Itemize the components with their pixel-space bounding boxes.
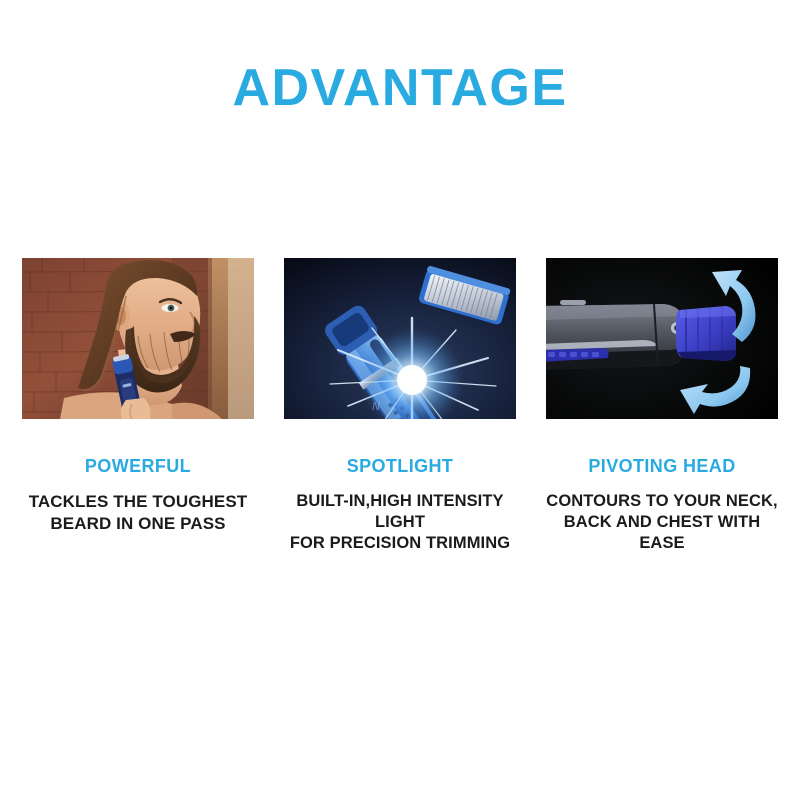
page-title: ADVANTAGE [0, 62, 800, 114]
feature-body-powerful: TACKLES THE TOUGHEST BEARD IN ONE PASS [29, 491, 248, 535]
feature-image-spotlight: N [284, 258, 516, 419]
feature-image-pivoting-head [546, 258, 778, 419]
feature-heading-powerful: POWERFUL [85, 457, 191, 475]
pivoting-head-illustration [546, 258, 778, 419]
feature-body-spotlight: BUILT-IN,HIGH INTENSITY LIGHT FOR PRECIS… [284, 491, 516, 554]
feature-heading-pivoting-head: PIVOTING HEAD [588, 457, 735, 475]
feature-image-powerful [22, 258, 254, 419]
trimmer-led-spotlight-illustration: N [284, 258, 516, 419]
feature-card-powerful: POWERFUL TACKLES THE TOUGHEST BEARD IN O… [22, 258, 254, 554]
feature-card-spotlight: N SPOTLIGHT BUILT-IN,HIGH INTENSITY LIGH… [284, 258, 516, 554]
feature-body-pivoting-head: CONTOURS TO YOUR NECK, BACK AND CHEST WI… [546, 491, 778, 554]
bearded-man-trimming-illustration [22, 258, 254, 419]
feature-card-pivoting-head: PIVOTING HEAD CONTOURS TO YOUR NECK, BAC… [546, 258, 778, 554]
feature-list: POWERFUL TACKLES THE TOUGHEST BEARD IN O… [22, 258, 778, 554]
svg-text:N: N [372, 400, 380, 413]
feature-heading-spotlight: SPOTLIGHT [347, 457, 454, 475]
